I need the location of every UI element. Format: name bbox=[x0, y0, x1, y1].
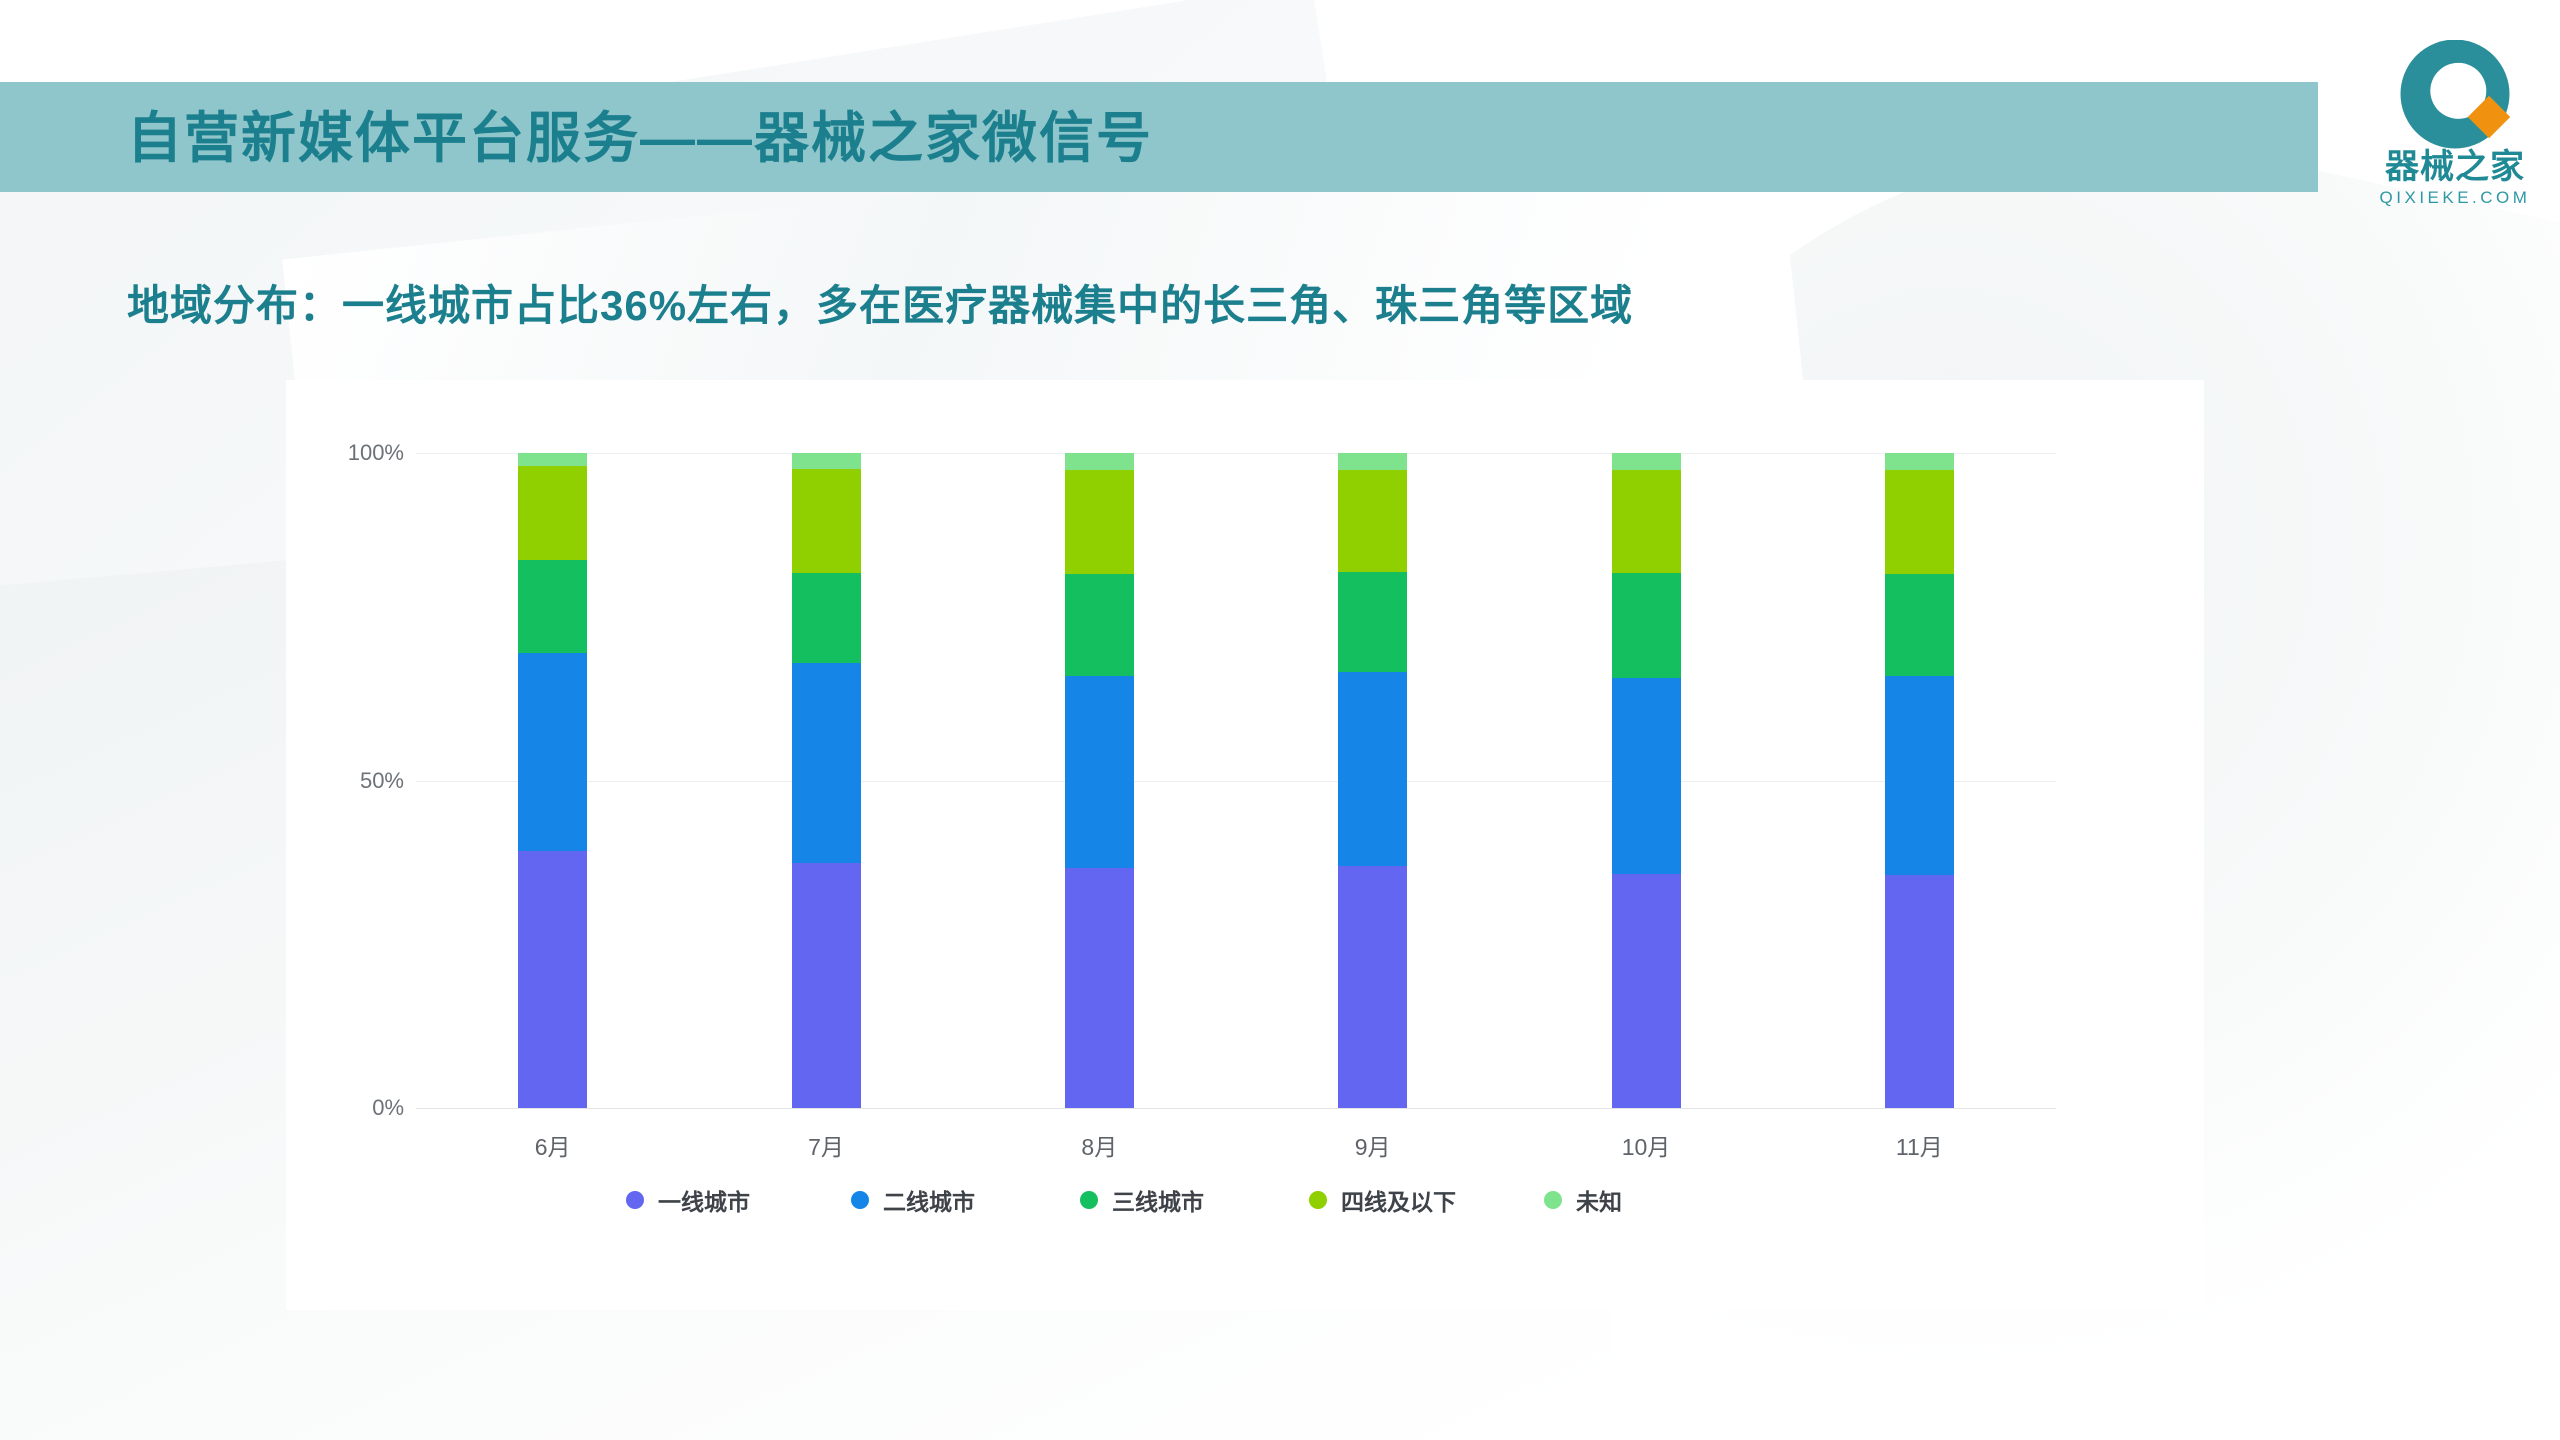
legend-color-dot-icon bbox=[1309, 1191, 1327, 1209]
slide-canvas: 自营新媒体平台服务——器械之家微信号 器械之家 QIXIEKE.COM 地域分布… bbox=[0, 0, 2560, 1440]
bar-slot bbox=[1812, 453, 2026, 1108]
x-axis-tick: 6月 bbox=[446, 1128, 660, 1162]
legend-label: 三线城市 bbox=[1112, 1183, 1204, 1217]
bar-segment[interactable] bbox=[1885, 453, 1954, 470]
y-axis-tick: 0% bbox=[284, 1095, 404, 1121]
bar-segment[interactable] bbox=[792, 469, 861, 572]
bar-slot bbox=[446, 453, 660, 1108]
legend-color-dot-icon bbox=[851, 1191, 869, 1209]
page-title: 自营新媒体平台服务——器械之家微信号 bbox=[127, 100, 1153, 176]
bar-segment[interactable] bbox=[1885, 875, 1954, 1108]
logo-domain: QIXIEKE.COM bbox=[2370, 188, 2540, 208]
bar-segment[interactable] bbox=[1612, 678, 1681, 874]
legend-color-dot-icon bbox=[1544, 1191, 1562, 1209]
stacked-bar[interactable] bbox=[792, 453, 861, 1108]
bar-segment[interactable] bbox=[1612, 470, 1681, 573]
stacked-bar[interactable] bbox=[1612, 453, 1681, 1108]
chart-plot-area: 0%50%100%6月7月8月9月10月11月 bbox=[286, 380, 2204, 1140]
stacked-bar[interactable] bbox=[518, 453, 587, 1108]
bar-segment[interactable] bbox=[1612, 453, 1681, 470]
legend-item[interactable]: 四线及以下 bbox=[1309, 1180, 1456, 1220]
brand-logo: 器械之家 QIXIEKE.COM bbox=[2370, 40, 2540, 220]
bar-slot bbox=[1539, 453, 1753, 1108]
bar-segment[interactable] bbox=[1065, 868, 1134, 1108]
bar-segment[interactable] bbox=[518, 851, 587, 1108]
logo-cn-name: 器械之家 bbox=[2370, 148, 2540, 186]
bar-slot bbox=[719, 453, 933, 1108]
bar-segment[interactable] bbox=[1065, 574, 1134, 676]
bar-segment[interactable] bbox=[1338, 572, 1407, 672]
legend-item[interactable]: 二线城市 bbox=[851, 1180, 975, 1220]
x-axis-tick: 7月 bbox=[719, 1128, 933, 1162]
bar-segment[interactable] bbox=[1338, 866, 1407, 1108]
bar-group bbox=[416, 380, 2056, 1140]
stacked-bar[interactable] bbox=[1338, 453, 1407, 1108]
bar-segment[interactable] bbox=[792, 453, 861, 469]
legend-item[interactable]: 三线城市 bbox=[1080, 1180, 1204, 1220]
slide-subtitle: 地域分布：一线城市占比36%左右，多在医疗器械集中的长三角、珠三角等区域 bbox=[127, 272, 1633, 333]
y-axis-tick: 50% bbox=[284, 768, 404, 794]
chart-legend: 一线城市二线城市三线城市四线及以下未知 bbox=[416, 1180, 2116, 1240]
y-axis-tick: 100% bbox=[284, 440, 404, 466]
legend-label: 四线及以下 bbox=[1341, 1183, 1456, 1217]
stacked-bar[interactable] bbox=[1065, 453, 1134, 1108]
bar-segment[interactable] bbox=[518, 560, 587, 654]
bar-segment[interactable] bbox=[792, 663, 861, 863]
bar-segment[interactable] bbox=[518, 653, 587, 851]
bar-segment[interactable] bbox=[1338, 470, 1407, 572]
bar-slot bbox=[1266, 453, 1480, 1108]
bar-segment[interactable] bbox=[1065, 470, 1134, 574]
bar-segment[interactable] bbox=[792, 573, 861, 663]
x-axis-tick: 9月 bbox=[1266, 1128, 1480, 1162]
legend-item[interactable]: 未知 bbox=[1544, 1180, 1622, 1220]
legend-label: 一线城市 bbox=[658, 1183, 750, 1217]
bar-segment[interactable] bbox=[1885, 574, 1954, 676]
bar-segment[interactable] bbox=[518, 453, 587, 466]
bar-segment[interactable] bbox=[518, 466, 587, 560]
bar-segment[interactable] bbox=[1338, 453, 1407, 470]
bar-segment[interactable] bbox=[1885, 470, 1954, 574]
bar-segment[interactable] bbox=[792, 863, 861, 1108]
bar-segment[interactable] bbox=[1338, 672, 1407, 865]
bar-segment[interactable] bbox=[1065, 453, 1134, 470]
legend-label: 二线城市 bbox=[883, 1183, 975, 1217]
legend-item[interactable]: 一线城市 bbox=[626, 1180, 750, 1220]
legend-color-dot-icon bbox=[626, 1191, 644, 1209]
bar-segment[interactable] bbox=[1612, 874, 1681, 1108]
chart-panel: 0%50%100%6月7月8月9月10月11月 一线城市二线城市三线城市四线及以… bbox=[286, 380, 2204, 1310]
legend-color-dot-icon bbox=[1080, 1191, 1098, 1209]
x-axis-tick: 10月 bbox=[1539, 1128, 1753, 1162]
bar-segment[interactable] bbox=[1065, 676, 1134, 869]
legend-label: 未知 bbox=[1576, 1183, 1622, 1217]
x-axis-tick: 8月 bbox=[992, 1128, 1206, 1162]
q-logo-icon bbox=[2370, 40, 2540, 152]
x-axis-tick: 11月 bbox=[1812, 1128, 2026, 1162]
bar-segment[interactable] bbox=[1885, 676, 1954, 875]
bar-slot bbox=[992, 453, 1206, 1108]
bar-segment[interactable] bbox=[1612, 573, 1681, 678]
stacked-bar[interactable] bbox=[1885, 453, 1954, 1108]
